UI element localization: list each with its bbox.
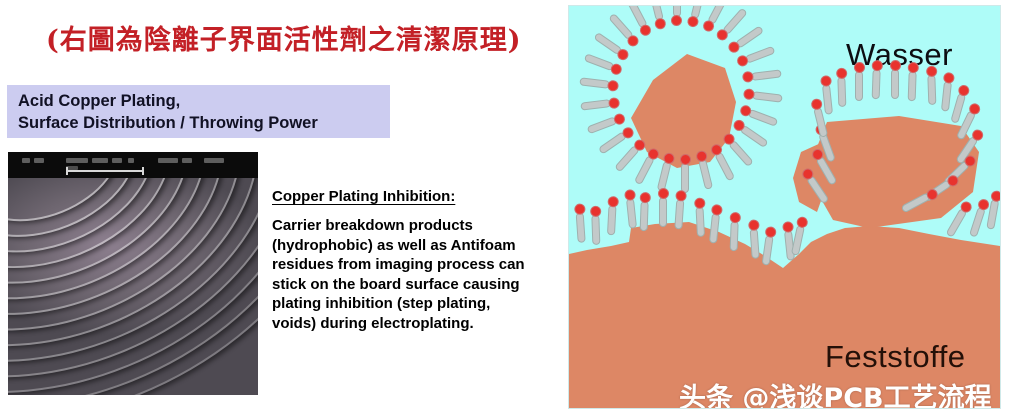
chinese-caption: (右圖為陰離子界面活性劑之清潔原理) [46,18,522,57]
surfactant-head [836,68,847,79]
surfactant-head [926,66,937,77]
surfactant-head [729,212,740,223]
inhibition-body: Carrier breakdown products (hydrophobic)… [272,216,534,333]
surfactant-head [871,60,882,71]
surfactant-head [675,190,687,202]
watermark: 头条 @浅谈PCB工艺流程 [679,376,992,409]
slide-header-box: Acid Copper Plating, Surface Distributio… [7,85,390,138]
label-feststoffe: Feststoffe [825,339,966,375]
surfactant-head [607,196,619,208]
surfactant-head [890,60,901,71]
sem-caption-bar [8,152,258,178]
surfactant-head [590,206,601,217]
sem-surface [8,152,258,395]
surfactant-head [574,203,586,215]
surfactant-tail [659,197,667,227]
surfactant-tail [872,69,881,99]
surfactant-diagram-panel: Wasser Feststoffe 头条 @浅谈PCB工艺流程 [568,5,1001,409]
inhibition-heading: Copper Plating Inhibition: [272,188,534,205]
slide-header-line1: Acid Copper Plating, [18,92,180,110]
surfactant-tail [891,69,899,99]
surfactant-tail [607,205,617,235]
slide-header-text: Acid Copper Plating, Surface Distributio… [18,90,318,134]
surfactant-tail [855,71,863,101]
surfactant-head [748,219,760,231]
left-slide: Acid Copper Plating, Surface Distributio… [0,78,555,420]
surfactant-head [854,62,865,73]
surfactant-tail [695,207,705,237]
surfactant-tail [837,77,846,107]
surfactant-tail [908,71,917,101]
surfactant-head [639,192,650,203]
slide-header-line2: Surface Distribution / Throwing Power [18,114,318,132]
inhibition-text-block: Copper Plating Inhibition: Carrier break… [272,188,534,333]
slide-canvas: (右圖為陰離子界面活性劑之清潔原理) Acid Copper Plating, … [0,0,1012,420]
surfactant-tail [640,201,649,231]
surfactant-head [907,62,918,73]
surfactant-tail [681,163,689,193]
sem-micrograph [8,152,258,395]
surfactant-tail [927,75,936,105]
surfactant-tail [591,215,600,245]
surfactant-tail [730,221,739,251]
surfactant-head [658,188,669,199]
surfactant-head [680,154,691,165]
surfactant-head [694,198,706,210]
